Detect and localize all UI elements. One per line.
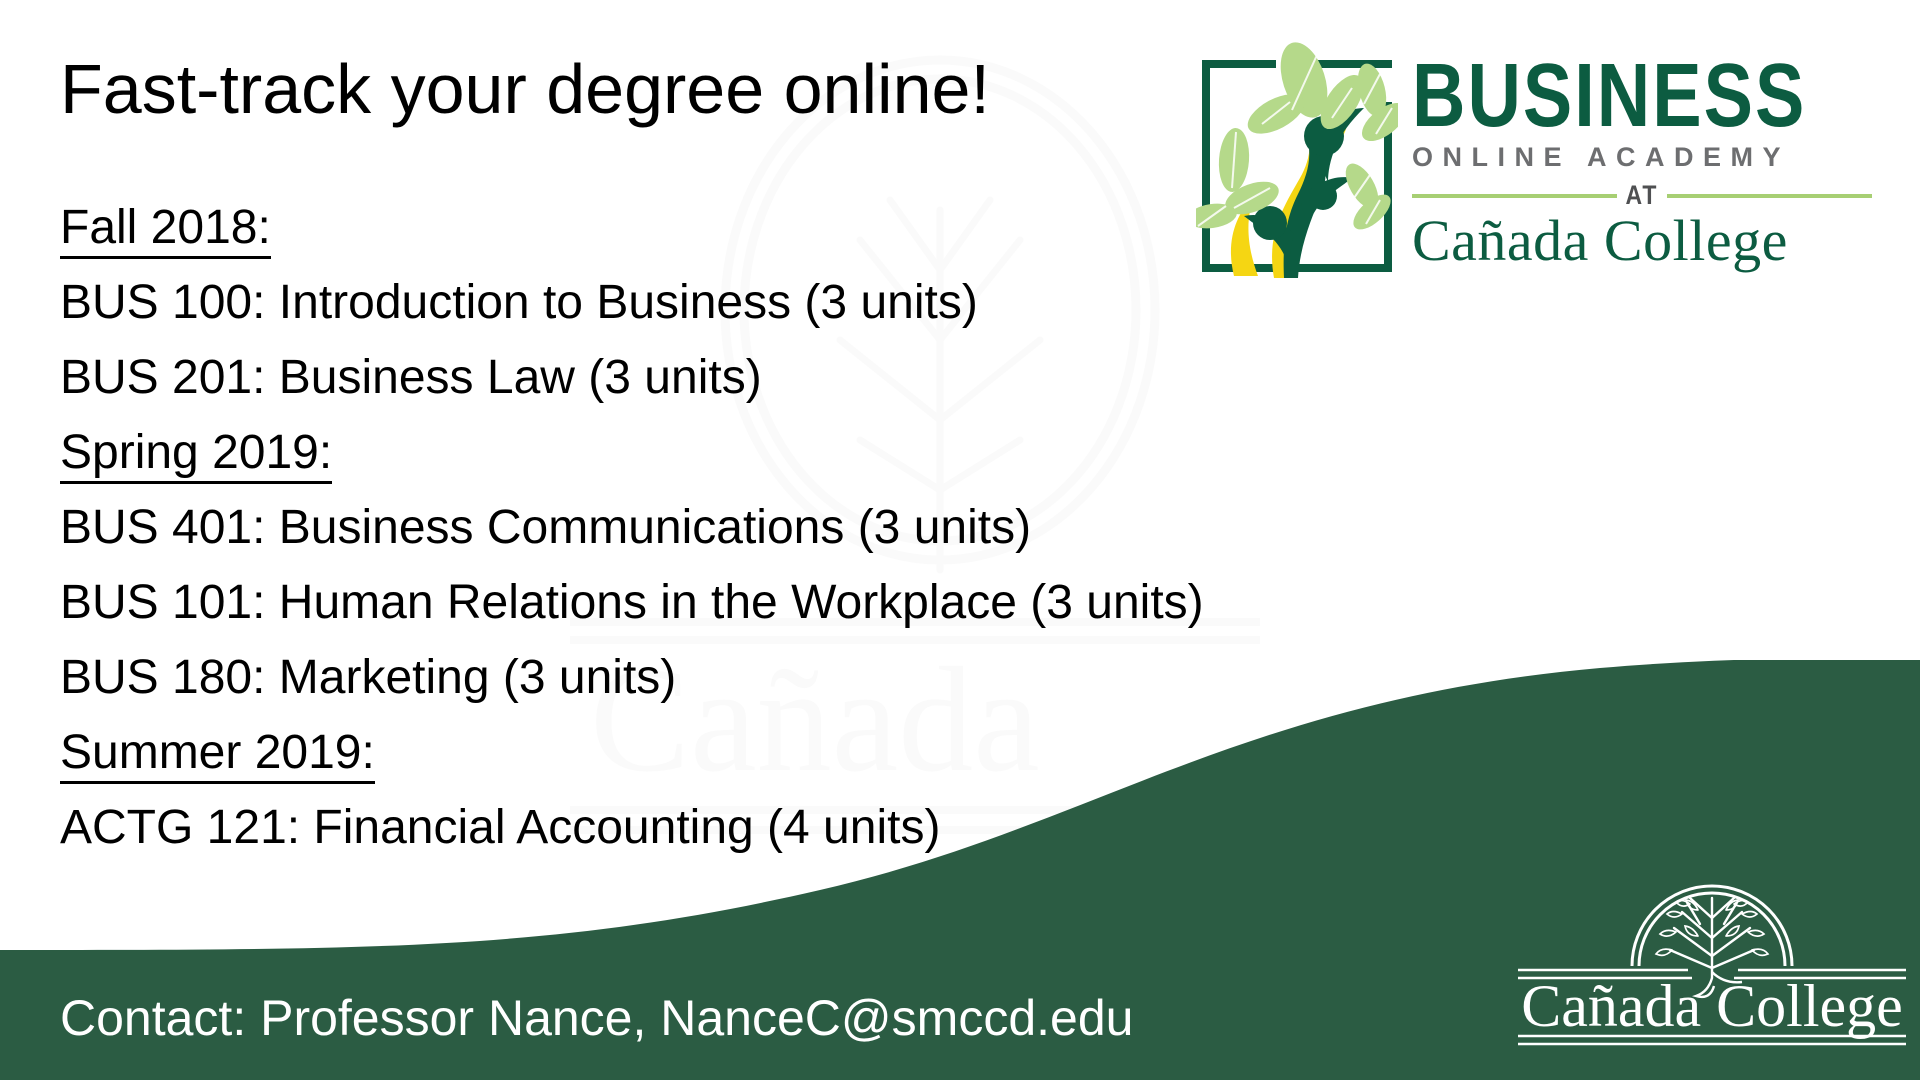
boa-wordmark: BUSINESS ONLINE ACADEMY AT Cañada Colleg… xyxy=(1412,38,1872,272)
course-line: BUS 180: Marketing (3 units) xyxy=(60,640,1204,715)
term-heading-fall: Fall 2018: xyxy=(60,190,1204,265)
course-line: BUS 101: Human Relations in the Workplac… xyxy=(60,565,1204,640)
course-line: BUS 201: Business Law (3 units) xyxy=(60,340,1204,415)
course-line: BUS 401: Business Communications (3 unit… xyxy=(60,490,1204,565)
term-heading-summer: Summer 2019: xyxy=(60,715,1204,790)
boa-at-text: AT xyxy=(1617,180,1668,211)
boa-rule-left xyxy=(1412,194,1617,198)
boa-business-text: BUSINESS xyxy=(1412,54,1872,137)
term-heading-spring: Spring 2019: xyxy=(60,415,1204,490)
canada-college-footer-text: Cañada College xyxy=(1521,973,1903,1039)
course-line: BUS 100: Introduction to Business (3 uni… xyxy=(60,265,1204,340)
boa-at-divider: AT xyxy=(1412,182,1872,209)
slide-canvas: Cañada Fast-track your degree online! Fa… xyxy=(0,0,1920,1080)
boa-online-academy-text: ONLINE ACADEMY xyxy=(1412,144,1872,171)
boa-canada-college-text: Cañada College xyxy=(1412,211,1872,272)
business-online-academy-logo: BUSINESS ONLINE ACADEMY AT Cañada Colleg… xyxy=(1196,38,1872,280)
term-heading-summer-label: Summer 2019: xyxy=(60,726,375,784)
page-title: Fast-track your degree online! xyxy=(60,54,990,124)
course-schedule-list: Fall 2018: BUS 100: Introduction to Busi… xyxy=(60,190,1204,865)
canada-college-footer-logo: Cañada College xyxy=(1512,854,1912,1050)
course-line: ACTG 121: Financial Accounting (4 units) xyxy=(60,790,1204,865)
boa-rule-right xyxy=(1667,194,1872,198)
tree-people-in-frame-icon xyxy=(1196,38,1398,278)
contact-text: Contact: Professor Nance, NanceC@smccd.e… xyxy=(60,989,1133,1047)
term-heading-fall-label: Fall 2018: xyxy=(60,201,271,259)
term-heading-spring-label: Spring 2019: xyxy=(60,426,332,484)
